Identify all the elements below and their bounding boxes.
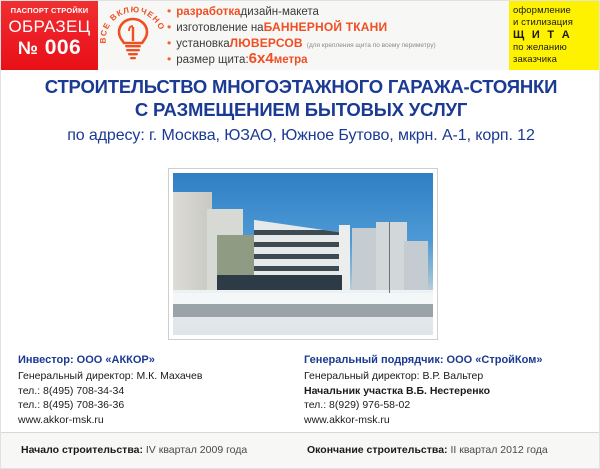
- sample-word: ОБРАЗЕЦ: [1, 17, 98, 37]
- bullet-dot-icon: •: [167, 35, 171, 51]
- bullet-plain: изготовление на: [176, 20, 263, 36]
- contractor-line: Начальник участка В.Б. Нестеренко: [304, 384, 594, 399]
- bullet-item: • изготовление на БАННЕРНОЙ ТКАНИ: [167, 19, 507, 35]
- contractor-line: Генеральный директор: В.Р. Вальтер: [304, 369, 594, 384]
- bullet-dot-icon: •: [167, 19, 171, 35]
- investor-line: Генеральный директор: М.К. Махачев: [18, 369, 298, 384]
- bullet-size-value: 6х4: [249, 51, 274, 67]
- footer-strip: Начало строительства: IV квартал 2009 го…: [1, 433, 600, 469]
- end-value: II квартал 2012 года: [450, 444, 547, 456]
- number-symbol: №: [18, 38, 39, 58]
- sample-number: № 006: [1, 36, 98, 60]
- bullet-dot-icon: •: [167, 3, 171, 19]
- title-line-2: С РАЗМЕЩЕНИЕМ БЫТОВЫХ УСЛУГ: [1, 98, 600, 121]
- bullet-caps: БАННЕРНОЙ ТКАНИ: [264, 19, 388, 35]
- start-label: Начало строительства:: [21, 444, 143, 456]
- start-value: IV квартал 2009 года: [146, 444, 247, 456]
- photo-tower-c: [376, 222, 407, 293]
- construction-passport-board: ПАСПОРТ СТРОЙКИ ОБРАЗЕЦ № 006 ВСЕ ВКЛЮЧЕ…: [0, 0, 600, 469]
- lightbulb-icon: ВСЕ ВКЛЮЧЕНО: [99, 1, 167, 70]
- investor-block: Инвестор: ООО «АККОР» Генеральный директ…: [18, 353, 298, 427]
- page-title: СТРОИТЕЛЬСТВО МНОГОЭТАЖНОГО ГАРАЖА-СТОЯН…: [1, 75, 600, 147]
- bullet-item: • установка ЛЮВЕРСОВ (для крепления щита…: [167, 35, 507, 51]
- bullet-caps: ЛЮВЕРСОВ: [230, 35, 303, 51]
- styling-line-3: Щ И Т А: [513, 29, 599, 41]
- styling-note-badge: оформление и стилизация Щ И Т А по желан…: [509, 1, 600, 70]
- photo-lamp-post: [389, 222, 390, 293]
- investor-website[interactable]: www.akkor-msk.ru: [18, 413, 298, 428]
- title-line-1: СТРОИТЕЛЬСТВО МНОГОЭТАЖНОГО ГАРАЖА-СТОЯН…: [1, 75, 600, 98]
- number-value: 006: [45, 36, 82, 59]
- investor-line: тел.: 8(495) 708-34-34: [18, 384, 298, 399]
- project-address: по адресу: г. Москва, ЮЗАО, Южное Бутово…: [1, 125, 600, 147]
- photo-road: [173, 303, 433, 318]
- project-photo: [173, 173, 433, 335]
- styling-line-4: по желанию: [513, 42, 599, 54]
- bullet-size-unit: метра: [274, 52, 308, 68]
- styling-line-1: оформление: [513, 5, 599, 17]
- bullet-item: • разработка дизайн-макета: [167, 3, 507, 19]
- bullet-accent: разработка: [176, 4, 240, 20]
- photo-tower-b: [352, 228, 378, 293]
- contractor-block: Генеральный подрядчик: ООО «СтройКом» Ге…: [304, 353, 594, 427]
- construction-end: Окончание строительства: II квартал 2012…: [307, 443, 548, 457]
- services-bullet-list: • разработка дизайн-макета • изготовлени…: [167, 3, 507, 67]
- contractor-line: тел.: 8(929) 976-58-02: [304, 398, 594, 413]
- bullet-note: (для крепления щита по всему периметру): [307, 38, 436, 54]
- styling-line-2: и стилизация: [513, 17, 599, 29]
- investor-line: тел.: 8(495) 708-36-36: [18, 398, 298, 413]
- photo-snow-pile: [173, 293, 433, 304]
- contractor-website[interactable]: www.akkor-msk.ru: [304, 413, 594, 428]
- photo-tower-d: [404, 241, 427, 293]
- project-photo-frame: [168, 168, 438, 340]
- bullet-plain: установка: [176, 36, 229, 52]
- investor-heading: Инвестор: ООО «АККОР»: [18, 353, 298, 368]
- styling-line-5: заказчика: [513, 54, 599, 66]
- bullet-plain: размер щита:: [176, 52, 248, 68]
- construction-start: Начало строительства: IV квартал 2009 го…: [21, 443, 247, 457]
- sample-kicker: ПАСПОРТ СТРОЙКИ: [1, 6, 98, 16]
- header-strip: ПАСПОРТ СТРОЙКИ ОБРАЗЕЦ № 006 ВСЕ ВКЛЮЧЕ…: [1, 1, 600, 70]
- end-label: Окончание строительства:: [307, 444, 448, 456]
- bullet-dot-icon: •: [167, 51, 171, 67]
- bullet-plain: дизайн-макета: [241, 4, 319, 20]
- contractor-heading: Генеральный подрядчик: ООО «СтройКом»: [304, 353, 594, 368]
- sample-badge: ПАСПОРТ СТРОЙКИ ОБРАЗЕЦ № 006: [1, 1, 98, 70]
